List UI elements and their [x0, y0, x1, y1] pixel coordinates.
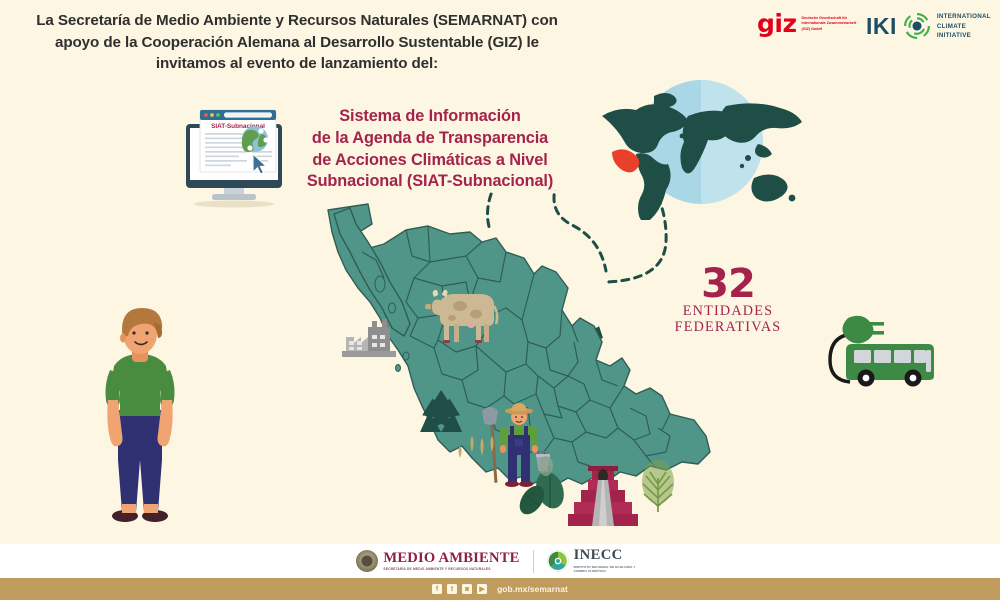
- fern-icon: [642, 460, 674, 512]
- statistic-label: ENTIDADES FEDERATIVAS: [672, 304, 784, 336]
- instagram-icon[interactable]: ◙: [462, 584, 472, 594]
- iki-subtitle-line-3: INITIATIVE: [937, 31, 991, 41]
- iki-subtitle-line-1: INTERNATIONAL: [937, 12, 991, 22]
- giz-logo: giz Deutsche Gesellschaft für Internatio…: [757, 13, 864, 34]
- footer-logo-bar: MEDIO AMBIENTE SECRETARÍA DE MEDIO AMBIE…: [0, 544, 1000, 578]
- page-title: Sistema de Información de la Agenda de T…: [284, 106, 576, 193]
- footer-social-bar: f t ◙ ▶ gob.mx/semarnat: [0, 578, 1000, 600]
- mexico-map-illustration: [310, 190, 720, 540]
- statistic-number: 32: [672, 266, 784, 302]
- monitor-illustration: SIAT-Subnacional: [178, 98, 290, 210]
- iki-subtitle: INTERNATIONAL CLIMATE INITIATIVE: [937, 12, 991, 41]
- mexican-eagle-seal-icon: [356, 550, 378, 572]
- footer-url[interactable]: gob.mx/semarnat: [497, 584, 568, 594]
- electric-bus-illustration: [812, 312, 946, 398]
- facebook-icon[interactable]: f: [432, 584, 442, 594]
- semarnat-logo: MEDIO AMBIENTE SECRETARÍA DE MEDIO AMBIE…: [356, 550, 519, 572]
- iki-circles-icon: [903, 12, 931, 40]
- statistic-label-line-1: ENTIDADES: [672, 304, 784, 320]
- person-illustration: [92, 300, 188, 528]
- header-line-3b: del:: [407, 55, 438, 72]
- mexico-highlight: [612, 149, 639, 172]
- inecc-name: INECC: [574, 548, 644, 563]
- statistic-label-line-2: FEDERATIVAS: [672, 320, 784, 336]
- footer-divider: [533, 550, 534, 573]
- giz-subtitle: Deutsche Gesellschaft für Internationale…: [802, 13, 864, 32]
- poster-canvas: La Secretaría de Medio Ambiente y Recurs…: [0, 0, 1000, 600]
- statistic-block: 32 ENTIDADES FEDERATIVAS: [672, 266, 784, 336]
- iki-wordmark: IKI: [866, 15, 897, 38]
- title-line-3: de Acciones Climáticas a Nivel: [284, 150, 576, 172]
- youtube-icon[interactable]: ▶: [477, 584, 487, 594]
- giz-wordmark: giz: [757, 13, 797, 34]
- header-line-1: La Secretaría de Medio Ambiente y Recurs…: [36, 12, 558, 29]
- invitation-header: La Secretaría de Medio Ambiente y Recurs…: [8, 10, 586, 75]
- twitter-icon[interactable]: t: [447, 584, 457, 594]
- header-line-3-bold: evento de lanzamiento: [247, 55, 408, 72]
- semarnat-name: MEDIO AMBIENTE: [383, 551, 519, 566]
- iki-logo: IKI INTERNATIONAL CLIMATE INITIATIVE: [866, 12, 991, 41]
- inecc-subtitle: INSTITUTO NACIONAL DE ECOLOGÍA Y CAMBIO …: [574, 565, 644, 574]
- inecc-logo: INECC INSTITUTO NACIONAL DE ECOLOGÍA Y C…: [547, 548, 644, 574]
- header-line-2: apoyo de la Cooperación Alemana al Desar…: [55, 34, 539, 51]
- header-line-3a: invitamos al: [156, 55, 247, 72]
- semarnat-subtitle: SECRETARÍA DE MEDIO AMBIENTE Y RECURSOS …: [383, 568, 519, 571]
- title-line-1: Sistema de Información: [284, 106, 576, 128]
- iki-subtitle-line-2: CLIMATE: [937, 22, 991, 32]
- inecc-leaf-icon: [547, 550, 569, 572]
- title-line-2: de la Agenda de Transparencia: [284, 128, 576, 150]
